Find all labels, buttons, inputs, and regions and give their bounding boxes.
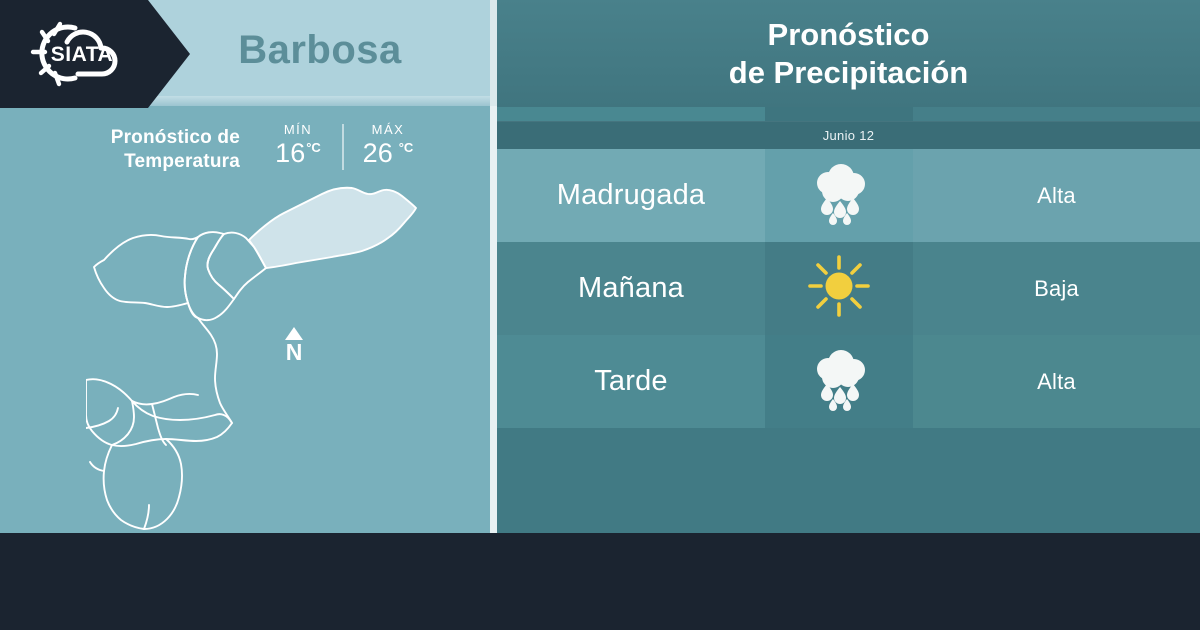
north-arrow-icon: N bbox=[277, 327, 311, 377]
precipitation-title-line2: de Precipitación bbox=[729, 55, 968, 90]
temperature-min: MÍN 16°C bbox=[264, 122, 332, 168]
footer: @siatamedellin www.siata.gov.co Con el a… bbox=[0, 533, 1200, 630]
temperature-min-value-group: 16°C bbox=[275, 138, 321, 168]
temperature-title-line1: Pronóstico de bbox=[60, 126, 240, 150]
forecast-icon-cell bbox=[765, 149, 913, 242]
date-label: Junio 12 bbox=[823, 128, 875, 143]
map-region-barbosa bbox=[249, 188, 416, 268]
sun-cloud-icon: SIATA bbox=[14, 12, 139, 96]
page-title: Barbosa bbox=[150, 0, 490, 100]
precipitation-title: Pronóstico de Precipitación bbox=[729, 16, 968, 92]
rain-cloud-icon bbox=[803, 157, 875, 234]
forecast-probability-cell: Alta bbox=[913, 335, 1200, 428]
forecast-probability-label: Alta bbox=[1037, 183, 1076, 209]
sun-icon bbox=[806, 253, 872, 324]
forecast-row-tarde[interactable]: Tarde bbox=[497, 335, 1200, 428]
forecast-icon-cell bbox=[765, 242, 913, 335]
aburra-valley-map[interactable] bbox=[86, 175, 456, 530]
precipitation-title-line1: Pronóstico bbox=[768, 17, 930, 52]
forecast-period-cell: Mañana bbox=[497, 242, 765, 335]
temperature-title-line2: Temperatura bbox=[60, 150, 240, 174]
temperature-min-unit: °C bbox=[306, 138, 321, 154]
forecast-period-label: Tarde bbox=[594, 365, 668, 398]
temperature-max-unit: °C bbox=[399, 138, 414, 154]
forecast-probability-cell: Alta bbox=[913, 149, 1200, 242]
precipitation-header: Pronóstico de Precipitación bbox=[497, 0, 1200, 107]
temperature-min-value: 16 bbox=[275, 138, 305, 168]
forecast-icon-cell bbox=[765, 335, 913, 428]
forecast-period-cell: Madrugada bbox=[497, 149, 765, 242]
temperature-title: Pronóstico de Temperatura bbox=[60, 122, 240, 174]
temperature-max-value: 26 bbox=[363, 138, 393, 168]
forecast-period-label: Mañana bbox=[578, 272, 684, 305]
forecast-period-label: Madrugada bbox=[557, 179, 706, 212]
panel-gap bbox=[490, 106, 497, 533]
date-band-june-12: Junio 12 bbox=[497, 121, 1200, 149]
forecast-row-manana[interactable]: Mañana bbox=[497, 242, 1200, 335]
svg-text:SIATA: SIATA bbox=[51, 43, 113, 66]
forecast-period-cell: Tarde bbox=[497, 335, 765, 428]
north-label: N bbox=[286, 341, 303, 364]
forecast-probability-label: Baja bbox=[1034, 276, 1079, 302]
panel-gap-top bbox=[490, 0, 497, 106]
temperature-values: MÍN 16°C MÁX 26°C bbox=[264, 122, 422, 170]
precipitation-panel: Pronóstico de Precipitación Junio 11 Noc… bbox=[497, 0, 1200, 533]
temperature-max: MÁX 26°C bbox=[354, 122, 422, 168]
temperature-max-value-group: 26°C bbox=[363, 138, 414, 168]
forecast-probability-label: Alta bbox=[1037, 369, 1076, 395]
weather-forecast-poster: Barbosa SIATA bbox=[0, 0, 1200, 630]
rain-cloud-icon bbox=[803, 343, 875, 420]
temperature-divider bbox=[342, 124, 344, 170]
temperature-max-label: MÁX bbox=[372, 122, 405, 137]
forecast-row-madrugada[interactable]: Madrugada bbox=[497, 149, 1200, 242]
left-panel: Barbosa SIATA bbox=[0, 0, 490, 533]
forecast-probability-cell: Baja bbox=[913, 242, 1200, 335]
temperature-min-label: MÍN bbox=[284, 122, 312, 137]
